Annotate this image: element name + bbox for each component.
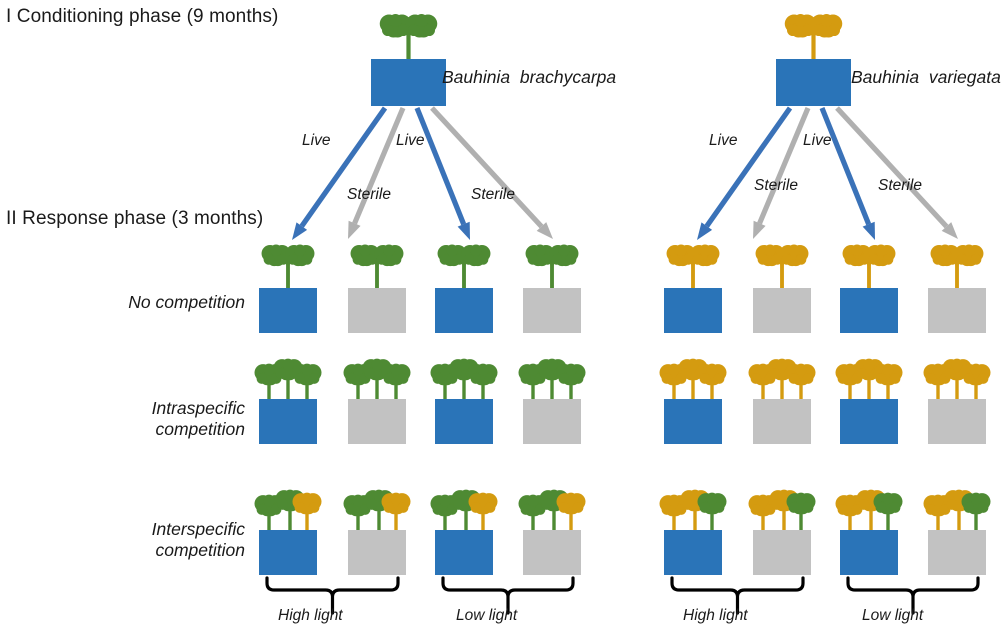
pot-bauhinia-brachycarpa-intraspecific-sterile-high[interactable] bbox=[348, 399, 406, 444]
pot-group-bauhinia-variegata-interspecific-0 bbox=[660, 490, 727, 575]
leaf-cluster bbox=[469, 493, 498, 515]
pot-group-bauhinia-variegata-intraspecific-1 bbox=[749, 359, 816, 444]
pot-group-bauhinia-brachycarpa-no-competition-3 bbox=[523, 245, 581, 333]
pot-bauhinia-variegata-interspecific-sterile-low[interactable] bbox=[928, 530, 986, 575]
arrow-head bbox=[458, 222, 470, 240]
leaf-cluster bbox=[811, 14, 843, 38]
arrow-sterile-bauhinia-variegata-1 bbox=[753, 108, 808, 239]
pot-group-bauhinia-brachycarpa-intraspecific-1 bbox=[344, 359, 411, 444]
plant-bauhinia-brachycarpa-no-competition-1 bbox=[351, 245, 404, 292]
brace-label-high-light-left: High light bbox=[278, 607, 343, 625]
species-panel-bauhinia-variegata bbox=[660, 14, 991, 613]
arrow-live-bauhinia-brachycarpa-0 bbox=[292, 108, 385, 240]
arrow-shaft bbox=[432, 108, 541, 227]
species-label-bauhinia-variegata: Bauhinia variegata bbox=[851, 67, 1001, 88]
leaf-cluster bbox=[787, 493, 816, 515]
arrow-label-sterile-right-2: Sterile bbox=[878, 177, 922, 195]
conditioning-plant-bauhinia-brachycarpa bbox=[380, 14, 438, 65]
pot-group-bauhinia-variegata-intraspecific-3 bbox=[924, 359, 991, 444]
pot-group-bauhinia-brachycarpa-interspecific-1 bbox=[344, 490, 411, 575]
leaf-cluster bbox=[557, 364, 586, 386]
pot-group-bauhinia-variegata-interspecific-1 bbox=[749, 490, 816, 575]
arrow-label-live-right-2: Live bbox=[803, 132, 831, 150]
leaf-cluster bbox=[469, 364, 498, 386]
leaf-cluster bbox=[382, 364, 411, 386]
pot-bauhinia-variegata-interspecific-sterile-high[interactable] bbox=[753, 530, 811, 575]
conditioning-pot-bauhinia-brachycarpa[interactable] bbox=[371, 59, 446, 106]
brace-label-low-light-right: Low light bbox=[862, 607, 923, 625]
plant-bauhinia-brachycarpa-no-competition-2 bbox=[438, 245, 491, 292]
plant-bauhinia-variegata-intraspecific-1-2 bbox=[787, 364, 816, 403]
plant-bauhinia-brachycarpa-intraspecific-2-2 bbox=[469, 364, 498, 403]
pot-bauhinia-variegata-no-competition-live-high[interactable] bbox=[664, 288, 722, 333]
plant-bauhinia-brachycarpa-intraspecific-1-2 bbox=[382, 364, 411, 403]
arrow-live-bauhinia-variegata-0 bbox=[697, 108, 790, 240]
row-label-intraspecific-line1: Intraspecific bbox=[20, 398, 245, 419]
arrow-label-sterile-left-2: Sterile bbox=[471, 186, 515, 204]
plant-bauhinia-variegata-interspecific-0-other-2 bbox=[698, 493, 727, 534]
arrow-label-sterile-left-1: Sterile bbox=[347, 186, 391, 204]
pot-bauhinia-brachycarpa-intraspecific-live-high[interactable] bbox=[259, 399, 317, 444]
phase-2-title: II Response phase (3 months) bbox=[6, 208, 263, 230]
pot-bauhinia-variegata-intraspecific-live-high[interactable] bbox=[664, 399, 722, 444]
pot-bauhinia-variegata-intraspecific-live-low[interactable] bbox=[840, 399, 898, 444]
pot-bauhinia-variegata-intraspecific-sterile-low[interactable] bbox=[928, 399, 986, 444]
pot-bauhinia-variegata-intraspecific-sterile-high[interactable] bbox=[753, 399, 811, 444]
plant-bauhinia-brachycarpa-intraspecific-0-2 bbox=[293, 364, 322, 403]
pot-group-bauhinia-brachycarpa-intraspecific-3 bbox=[519, 359, 586, 444]
pot-group-bauhinia-variegata-intraspecific-0 bbox=[660, 359, 727, 444]
arrow-shaft bbox=[760, 108, 808, 223]
pot-group-bauhinia-brachycarpa-interspecific-0 bbox=[255, 490, 322, 575]
arrow-sterile-bauhinia-brachycarpa-1 bbox=[348, 108, 403, 239]
arrow-label-live-right-1: Live bbox=[709, 132, 737, 150]
plant-bauhinia-brachycarpa-interspecific-0-other-2 bbox=[293, 493, 322, 534]
plant-bauhinia-variegata-intraspecific-2-2 bbox=[874, 364, 903, 403]
arrow-label-live-left-1: Live bbox=[302, 132, 330, 150]
leaf-cluster bbox=[874, 364, 903, 386]
species-label-bauhinia-brachycarpa: Bauhinia brachycarpa bbox=[442, 67, 616, 88]
leaf-cluster bbox=[382, 493, 411, 515]
leaf-cluster bbox=[698, 493, 727, 515]
arrow-shaft bbox=[355, 108, 403, 223]
arrow-head bbox=[863, 222, 875, 240]
plant-bauhinia-variegata-interspecific-2-other-2 bbox=[874, 493, 903, 534]
pot-bauhinia-brachycarpa-intraspecific-live-low[interactable] bbox=[435, 399, 493, 444]
plant-bauhinia-variegata-no-competition-1 bbox=[756, 245, 809, 292]
arrow-shaft bbox=[837, 108, 946, 227]
pot-bauhinia-brachycarpa-no-competition-sterile-high[interactable] bbox=[348, 288, 406, 333]
pot-group-bauhinia-brachycarpa-intraspecific-2 bbox=[431, 359, 498, 444]
plant-bauhinia-brachycarpa-no-competition-0 bbox=[262, 245, 315, 292]
plant-bauhinia-variegata-intraspecific-0-2 bbox=[698, 364, 727, 403]
leaf-cluster bbox=[787, 364, 816, 386]
plant-bauhinia-brachycarpa-intraspecific-3-2 bbox=[557, 364, 586, 403]
pot-group-bauhinia-brachycarpa-intraspecific-0 bbox=[255, 359, 322, 444]
pot-group-bauhinia-variegata-no-competition-0 bbox=[664, 245, 722, 333]
leaf-cluster bbox=[406, 14, 438, 38]
plant-bauhinia-brachycarpa-interspecific-3-other-2 bbox=[557, 493, 586, 534]
conditioning-pot-bauhinia-variegata[interactable] bbox=[776, 59, 851, 106]
pot-bauhinia-brachycarpa-interspecific-live-low[interactable] bbox=[435, 530, 493, 575]
pot-bauhinia-brachycarpa-interspecific-live-high[interactable] bbox=[259, 530, 317, 575]
plant-bauhinia-variegata-no-competition-3 bbox=[931, 245, 984, 292]
arrow-label-sterile-right-1: Sterile bbox=[754, 177, 798, 195]
arrow-shaft bbox=[302, 108, 385, 226]
arrow-shaft bbox=[822, 108, 869, 224]
pot-bauhinia-variegata-no-competition-sterile-low[interactable] bbox=[928, 288, 986, 333]
leaf-cluster bbox=[549, 245, 578, 267]
pot-group-bauhinia-variegata-no-competition-1 bbox=[753, 245, 811, 333]
plant-bauhinia-variegata-interspecific-3-other-2 bbox=[962, 493, 991, 534]
leaf-cluster bbox=[557, 493, 586, 515]
row-label-intraspecific-line2: competition bbox=[20, 419, 245, 440]
leaf-cluster bbox=[698, 364, 727, 386]
arrow-sterile-bauhinia-brachycarpa-3 bbox=[432, 108, 553, 239]
leaf-cluster bbox=[285, 245, 314, 267]
plant-bauhinia-brachycarpa-no-competition-3 bbox=[526, 245, 579, 292]
conditioning-plant-bauhinia-variegata bbox=[785, 14, 843, 65]
plant-bauhinia-brachycarpa-interspecific-2-other-2 bbox=[469, 493, 498, 534]
arrow-head bbox=[753, 221, 766, 239]
arrow-head bbox=[348, 221, 361, 239]
leaf-cluster bbox=[293, 493, 322, 515]
pot-group-bauhinia-brachycarpa-no-competition-2 bbox=[435, 245, 493, 333]
arrow-live-bauhinia-variegata-2 bbox=[822, 108, 875, 240]
leaf-cluster bbox=[866, 245, 895, 267]
pot-group-bauhinia-variegata-interspecific-3 bbox=[924, 490, 991, 575]
leaf-cluster bbox=[690, 245, 719, 267]
pot-group-bauhinia-brachycarpa-interspecific-2 bbox=[431, 490, 498, 575]
phase-1-title: I Conditioning phase (9 months) bbox=[6, 6, 278, 28]
pot-group-bauhinia-variegata-interspecific-2 bbox=[836, 490, 903, 575]
pot-bauhinia-brachycarpa-interspecific-sterile-low[interactable] bbox=[523, 530, 581, 575]
arrow-shaft bbox=[417, 108, 464, 224]
leaf-cluster bbox=[293, 364, 322, 386]
pot-bauhinia-variegata-interspecific-live-high[interactable] bbox=[664, 530, 722, 575]
plant-bauhinia-variegata-intraspecific-3-2 bbox=[962, 364, 991, 403]
pot-group-bauhinia-brachycarpa-no-competition-0 bbox=[259, 245, 317, 333]
pot-group-bauhinia-brachycarpa-no-competition-1 bbox=[348, 245, 406, 333]
leaf-cluster bbox=[461, 245, 490, 267]
arrow-live-bauhinia-brachycarpa-2 bbox=[417, 108, 470, 240]
figure-canvas: I Conditioning phase (9 months) II Respo… bbox=[0, 0, 1008, 635]
pot-bauhinia-brachycarpa-no-competition-live-low[interactable] bbox=[435, 288, 493, 333]
plant-bauhinia-variegata-interspecific-1-other-2 bbox=[787, 493, 816, 534]
brace-label-low-light-left: Low light bbox=[456, 607, 517, 625]
leaf-cluster bbox=[954, 245, 983, 267]
pot-bauhinia-variegata-no-competition-live-low[interactable] bbox=[840, 288, 898, 333]
pot-group-bauhinia-variegata-intraspecific-2 bbox=[836, 359, 903, 444]
arrow-sterile-bauhinia-variegata-3 bbox=[837, 108, 958, 239]
pot-bauhinia-variegata-interspecific-live-low[interactable] bbox=[840, 530, 898, 575]
pot-bauhinia-brachycarpa-no-competition-live-high[interactable] bbox=[259, 288, 317, 333]
plant-bauhinia-brachycarpa-interspecific-1-other-2 bbox=[382, 493, 411, 534]
pot-group-bauhinia-variegata-no-competition-3 bbox=[928, 245, 986, 333]
leaf-cluster bbox=[874, 493, 903, 515]
pot-bauhinia-variegata-no-competition-sterile-high[interactable] bbox=[753, 288, 811, 333]
plant-bauhinia-variegata-no-competition-2 bbox=[843, 245, 896, 292]
leaf-cluster bbox=[962, 493, 991, 515]
pot-bauhinia-brachycarpa-interspecific-sterile-high[interactable] bbox=[348, 530, 406, 575]
row-label-no-competition: No competition bbox=[20, 292, 245, 313]
brace-label-high-light-right: High light bbox=[683, 607, 748, 625]
leaf-cluster bbox=[962, 364, 991, 386]
row-label-interspecific-line2: competition bbox=[20, 540, 245, 561]
arrow-label-live-left-2: Live bbox=[396, 132, 424, 150]
pot-bauhinia-brachycarpa-no-competition-sterile-low[interactable] bbox=[523, 288, 581, 333]
leaf-cluster bbox=[374, 245, 403, 267]
row-label-interspecific-line1: Interspecific bbox=[20, 519, 245, 540]
pot-group-bauhinia-brachycarpa-interspecific-3 bbox=[519, 490, 586, 575]
pot-group-bauhinia-variegata-no-competition-2 bbox=[840, 245, 898, 333]
plant-bauhinia-variegata-no-competition-0 bbox=[667, 245, 720, 292]
leaf-cluster bbox=[779, 245, 808, 267]
arrow-shaft bbox=[707, 108, 790, 226]
species-panel-bauhinia-brachycarpa bbox=[255, 14, 586, 613]
pot-bauhinia-brachycarpa-intraspecific-sterile-low[interactable] bbox=[523, 399, 581, 444]
